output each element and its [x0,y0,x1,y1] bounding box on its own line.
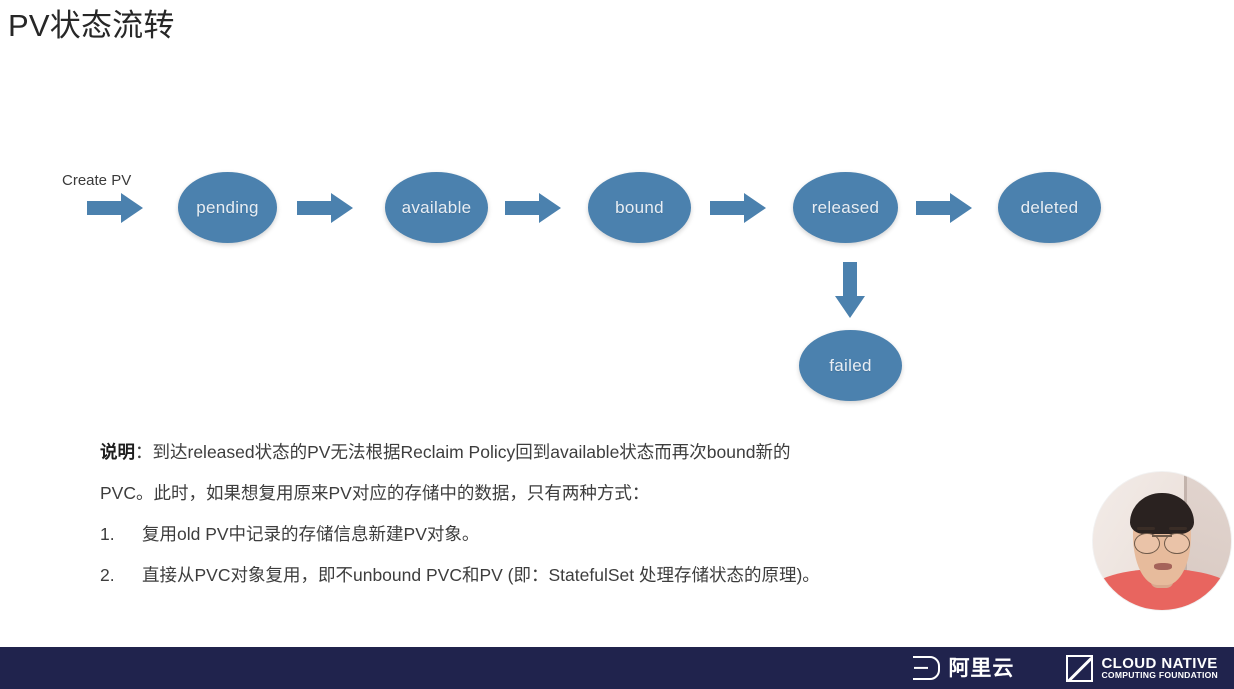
arrow-bound-to-released [710,191,766,225]
arrow-entry-to-pending [87,191,143,225]
footer-bar: 阿里云 CLOUD NATIVE COMPUTING FOUNDATION [0,647,1234,689]
cncf-line-1: CLOUD NATIVE [1101,656,1218,672]
arrow-released-to-deleted [916,191,972,225]
state-node-deleted[interactable]: deleted [998,172,1101,243]
explanation-block: 说明：到达released状态的PV无法根据Reclaim Policy回到av… [100,432,1190,596]
state-node-failed[interactable]: failed [799,330,902,401]
arrow-released-to-failed [833,262,867,318]
state-node-label: deleted [1021,198,1079,218]
glasses-bridge [1152,535,1171,537]
cncf-mark-icon [1066,655,1093,682]
presenter-webcam-overlay[interactable] [1093,472,1231,610]
explanation-line-2: PVC。此时，如果想复用原来PV对应的存储中的数据，只有两种方式： [100,473,1190,514]
cncf-line-2: COMPUTING FOUNDATION [1101,671,1218,680]
list-item-text: 复用old PV中记录的存储信息新建PV对象。 [142,514,479,555]
list-item: 1. 复用old PV中记录的存储信息新建PV对象。 [100,514,1190,555]
aliyun-logo: 阿里云 [902,656,1014,680]
explanation-lead: 说明 [100,442,135,462]
state-node-released[interactable]: released [793,172,898,243]
state-node-label: released [812,198,880,218]
list-item-number: 2. [100,555,142,596]
state-node-label: available [402,198,472,218]
explanation-line-1: 说明：到达released状态的PV无法根据Reclaim Policy回到av… [100,432,1190,473]
state-node-label: pending [196,198,259,218]
aliyun-brand-text: 阿里云 [948,658,1014,679]
diagram-entry-label: Create PV [62,172,131,189]
cncf-logo: CLOUD NATIVE COMPUTING FOUNDATION [1066,655,1218,682]
state-node-bound[interactable]: bound [588,172,691,243]
presenter-eyebrow-right [1169,527,1187,529]
aliyun-mark-icon [902,656,940,680]
list-item-number: 1. [100,514,142,555]
cncf-wordmark: CLOUD NATIVE COMPUTING FOUNDATION [1101,656,1218,681]
arrow-pending-to-available [297,191,353,225]
state-node-label: failed [829,356,871,376]
state-node-label: bound [615,198,664,218]
list-item-text: 直接从PVC对象复用，即不unbound PVC和PV (即：StatefulS… [142,555,820,596]
explanation-line-1-text: ：到达released状态的PV无法根据Reclaim Policy回到avai… [135,442,790,462]
state-node-pending[interactable]: pending [178,172,277,243]
list-item: 2. 直接从PVC对象复用，即不unbound PVC和PV (即：Statef… [100,555,1190,596]
presenter-mouth [1154,563,1172,570]
pv-state-flow-diagram: Create PV pending available [0,0,1234,420]
presenter-eyebrow-left [1137,527,1155,529]
state-node-available[interactable]: available [385,172,488,243]
arrow-available-to-bound [505,191,561,225]
